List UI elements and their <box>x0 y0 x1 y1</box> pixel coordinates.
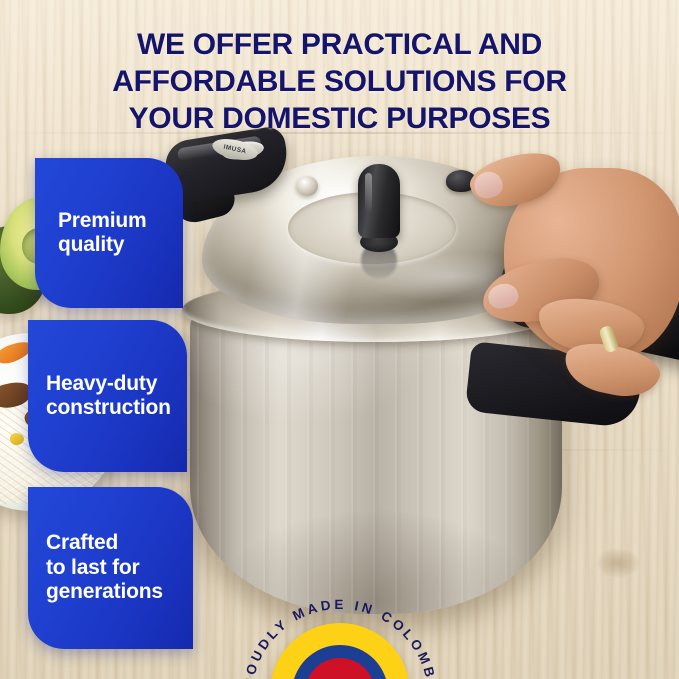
feature-card-label: Premium quality <box>35 209 146 258</box>
lid-rivet <box>296 176 318 196</box>
hand-holding-handle <box>452 150 679 410</box>
feature-card-label: Heavy-duty construction <box>28 372 171 421</box>
promo-image: IMUSA IMUSA WE OFFER PRACTICAL AND AFFOR… <box>0 0 679 679</box>
badge-arc-text-svg: PROUDLY MADE IN COLOMBIA <box>243 596 437 679</box>
thumbnail <box>486 281 520 311</box>
made-in-colombia-badge: PROUDLY MADE IN COLOMBIA <box>243 596 437 679</box>
feature-card-premium-quality[interactable]: Premium quality <box>35 158 183 308</box>
feature-card-heavy-duty-construction[interactable]: Heavy-duty construction <box>28 320 187 472</box>
badge-arc-text: PROUDLY MADE IN COLOMBIA <box>240 597 440 679</box>
page-title: WE OFFER PRACTICAL AND AFFORDABLE SOLUTI… <box>0 26 679 138</box>
feature-card-crafted-to-last[interactable]: Crafted to last for generations <box>28 487 193 649</box>
pressure-regulator-valve-icon <box>358 164 400 238</box>
fingernail <box>472 169 505 201</box>
feature-card-label: Crafted to last for generations <box>28 531 163 604</box>
